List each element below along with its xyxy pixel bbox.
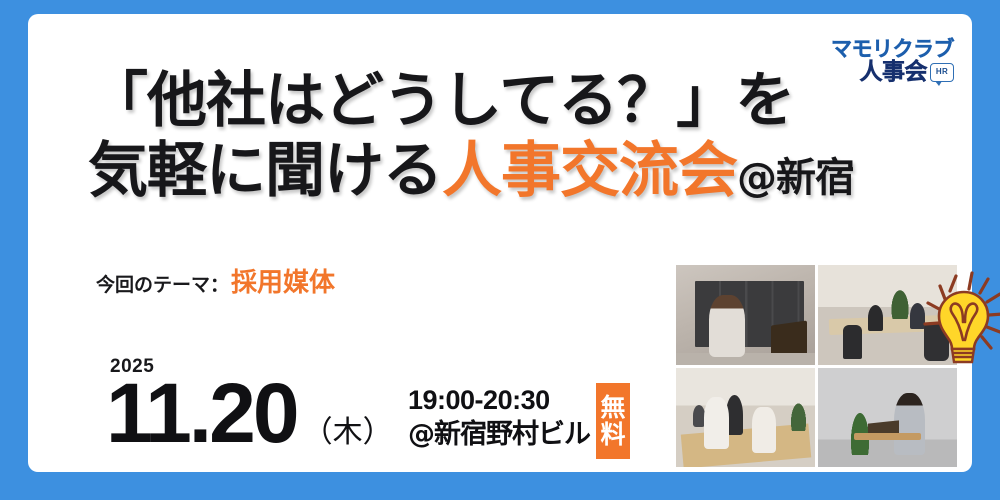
photo-2-person-1	[868, 305, 883, 331]
logo-line-1: マモリクラブ	[831, 38, 954, 60]
lightbulb-svg	[912, 270, 1000, 366]
theme-label: 今回のテーマ：	[96, 270, 229, 297]
event-flyer: マモリクラブ 人事会 HR 「他社はどうしてる？」を 気軽に聞ける人事交流会@新…	[0, 0, 1000, 500]
lightbulb-icon	[912, 270, 1000, 366]
event-date: 2025 11.20 （木）	[106, 356, 393, 454]
event-weekday: （木）	[303, 407, 393, 451]
photo-3-person-1	[726, 395, 743, 435]
photo-woman-presenting-by-lockers	[676, 265, 815, 365]
theme-value: 採用媒体	[231, 262, 335, 299]
headline-line-2: 気軽に聞ける人事交流会@新宿	[88, 136, 958, 206]
free-badge-char-1: 無	[600, 394, 625, 422]
headline-line-2-highlight: 人事交流会	[442, 136, 737, 206]
photo-3-person-3	[693, 405, 706, 427]
photo-people-around-table	[676, 368, 815, 468]
event-schedule: 19:00-20:30 @新宿野村ビル	[408, 384, 590, 452]
photo-4-laptop	[868, 421, 899, 438]
flyer-card: マモリクラブ 人事会 HR 「他社はどうしてる？」を 気軽に聞ける人事交流会@新…	[28, 14, 972, 472]
photo-1-desk	[676, 353, 815, 365]
event-venue: @新宿野村ビル	[408, 418, 590, 452]
event-time: 19:00-20:30	[408, 384, 590, 418]
photo-3-person-2	[752, 407, 776, 453]
photo-man-at-standing-desk	[818, 368, 957, 468]
status-badge-free: 無 料	[596, 383, 630, 459]
free-badge-char-2: 料	[600, 421, 625, 449]
photo-2-plant	[890, 287, 909, 319]
photo-3-plant	[790, 401, 807, 431]
theme-row: 今回のテーマ： 採用媒体	[96, 262, 335, 299]
page-title: 「他社はどうしてる？」を 気軽に聞ける人事交流会@新宿	[88, 66, 958, 206]
event-date-row: 11.20 （木）	[106, 374, 393, 454]
headline-line-2-suffix: @新宿	[737, 155, 854, 201]
event-day: 11.20	[106, 374, 297, 454]
headline-line-2-black: 気軽に聞ける	[88, 136, 442, 206]
headline-line-1: 「他社はどうしてる？」を	[88, 66, 958, 136]
